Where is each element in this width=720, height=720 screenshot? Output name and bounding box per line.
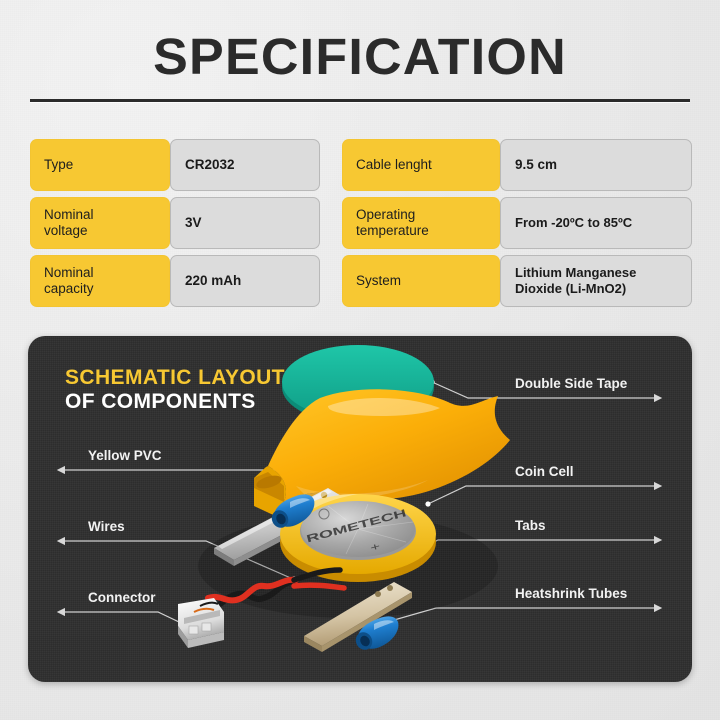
callout-heatshrink-tubes: Heatshrink Tubes <box>515 586 627 601</box>
page-title: SPECIFICATION <box>0 27 720 86</box>
callout-connector: Connector <box>88 590 156 605</box>
specification-table: Type CR2032 Cable lenght 9.5 cm Nominalv… <box>30 139 692 307</box>
spec-value-nominal-voltage: 3V <box>170 197 320 249</box>
schematic-heading-line2: OF COMPONENTS <box>65 389 285 416</box>
spec-value-operating-temperature: From -20ºC to 85ºC <box>500 197 692 249</box>
spec-value-cable-lenght: 9.5 cm <box>500 139 692 191</box>
column-gap <box>320 197 342 249</box>
spec-label-nominal-voltage: Nominalvoltage <box>30 197 170 249</box>
spec-value-type: CR2032 <box>170 139 320 191</box>
spec-value-system: Lithium ManganeseDioxide (Li-MnO2) <box>500 255 692 307</box>
callout-double-side-tape: Double Side Tape <box>515 376 627 391</box>
column-gap <box>320 139 342 191</box>
schematic-panel: SCHEMATIC LAYOUT OF COMPONENTS <box>28 336 692 682</box>
callout-coin-cell: Coin Cell <box>515 464 574 479</box>
spec-label-type: Type <box>30 139 170 191</box>
callout-tabs: Tabs <box>515 518 546 533</box>
column-gap <box>320 255 342 307</box>
callout-yellow-pvc: Yellow PVC <box>88 448 162 463</box>
spec-label-operating-temperature: Operatingtemperature <box>342 197 500 249</box>
infographic-page: SPECIFICATION Type CR2032 Cable lenght 9… <box>0 0 720 720</box>
connector-part <box>178 598 224 648</box>
schematic-heading-line1: SCHEMATIC LAYOUT <box>65 366 285 389</box>
spec-label-cable-lenght: Cable lenght <box>342 139 500 191</box>
header-divider <box>30 99 690 102</box>
schematic-heading: SCHEMATIC LAYOUT OF COMPONENTS <box>65 366 285 416</box>
spec-label-system: System <box>342 255 500 307</box>
spec-value-nominal-capacity: 220 mAh <box>170 255 320 307</box>
spec-label-nominal-capacity: Nominalcapacity <box>30 255 170 307</box>
callout-wires: Wires <box>88 519 125 534</box>
